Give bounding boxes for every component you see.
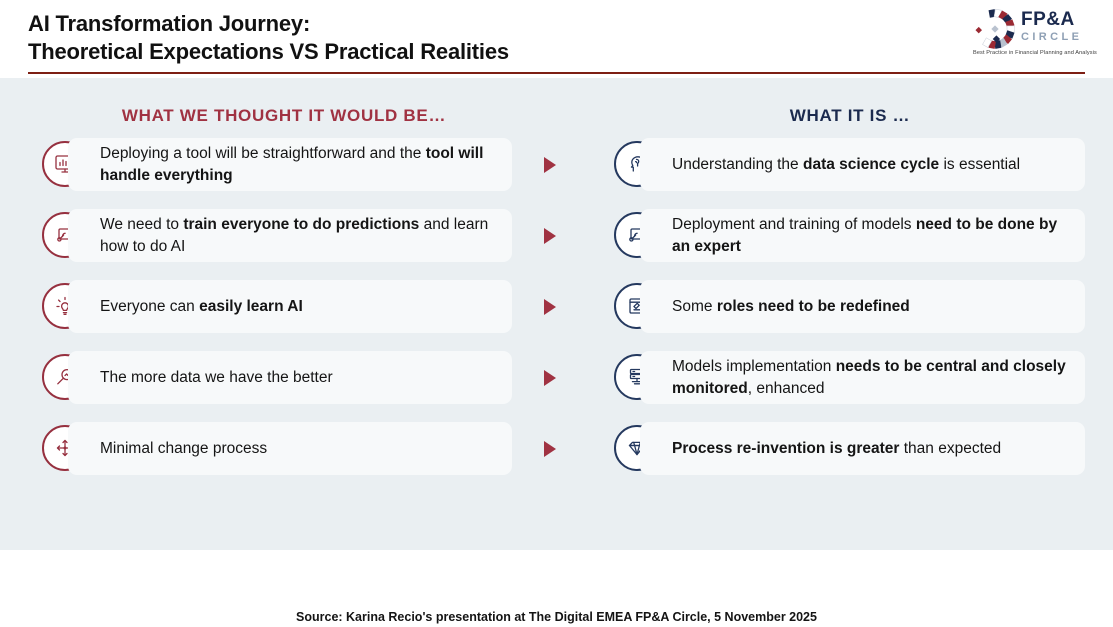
right-column-heading: WHAT IT IS … — [610, 106, 1090, 126]
reality-card[interactable]: Models implementation needs to be centra… — [640, 351, 1085, 404]
expectation-text: Everyone can easily learn AI — [100, 296, 303, 318]
expectation-card[interactable]: Minimal change process — [68, 422, 512, 475]
logo-wordmark: FP&A CIRCLE — [1021, 10, 1101, 46]
logo-name-primary: FP&A — [1021, 10, 1101, 29]
expectation-card[interactable]: Deploying a tool will be straightforward… — [68, 138, 512, 191]
arrow-right-icon — [544, 299, 556, 315]
comparison-rows: Deploying a tool will be straightforward… — [0, 138, 1113, 493]
expectation-text: Deploying a tool will be straightforward… — [100, 143, 500, 187]
reality-card[interactable]: Process re-invention is greater than exp… — [640, 422, 1085, 475]
title-line-2: Theoretical Expectations VS Practical Re… — [28, 38, 728, 66]
reality-text: Some roles need to be redefined — [672, 296, 910, 318]
arrow-right-icon — [544, 370, 556, 386]
reality-text: Understanding the data science cycle is … — [672, 154, 1020, 176]
expectation-text: We need to train everyone to do predicti… — [100, 214, 500, 258]
reality-text: Process re-invention is greater than exp… — [672, 438, 1001, 460]
title-line-1: AI Transformation Journey: — [28, 10, 728, 38]
expectation-text: The more data we have the better — [100, 367, 333, 389]
title-divider — [28, 72, 1085, 74]
left-column-heading: WHAT WE THOUGHT IT WOULD BE… — [38, 106, 530, 126]
comparison-row: Deploying a tool will be straightforward… — [0, 138, 1113, 191]
logo-tagline: Best Practice in Financial Planning and … — [973, 50, 1101, 56]
slide-root: AI Transformation Journey: Theoretical E… — [0, 0, 1113, 627]
expectation-card[interactable]: We need to train everyone to do predicti… — [68, 209, 512, 262]
comparison-row: The more data we have the better Models … — [0, 351, 1113, 404]
reality-card[interactable]: Deployment and training of models need t… — [640, 209, 1085, 262]
source-note: Source: Karina Recio's presentation at T… — [0, 610, 1113, 624]
arrow-right-icon — [544, 441, 556, 457]
reality-card[interactable]: Some roles need to be redefined — [640, 280, 1085, 333]
comparison-row: Everyone can easily learn AI Some roles … — [0, 280, 1113, 333]
expectation-text: Minimal change process — [100, 438, 267, 460]
fpa-circle-logo: FP&A CIRCLE Best Practice in Financial P… — [969, 6, 1101, 68]
slide-footer: Source: Karina Recio's presentation at T… — [0, 550, 1113, 627]
arrow-right-icon — [544, 157, 556, 173]
comparison-band: WHAT WE THOUGHT IT WOULD BE… WHAT IT IS … — [0, 78, 1113, 550]
reality-text: Models implementation needs to be centra… — [672, 356, 1075, 400]
logo-circle-mark-icon — [971, 8, 1019, 52]
logo-name-secondary: CIRCLE — [1021, 29, 1101, 46]
reality-card[interactable]: Understanding the data science cycle is … — [640, 138, 1085, 191]
comparison-row: We need to train everyone to do predicti… — [0, 209, 1113, 262]
reality-text: Deployment and training of models need t… — [672, 214, 1075, 258]
slide-header: AI Transformation Journey: Theoretical E… — [0, 0, 1113, 78]
comparison-row: Minimal change process Process re-invent… — [0, 422, 1113, 475]
expectation-card[interactable]: Everyone can easily learn AI — [68, 280, 512, 333]
arrow-right-icon — [544, 228, 556, 244]
page-title: AI Transformation Journey: Theoretical E… — [28, 10, 728, 66]
expectation-card[interactable]: The more data we have the better — [68, 351, 512, 404]
